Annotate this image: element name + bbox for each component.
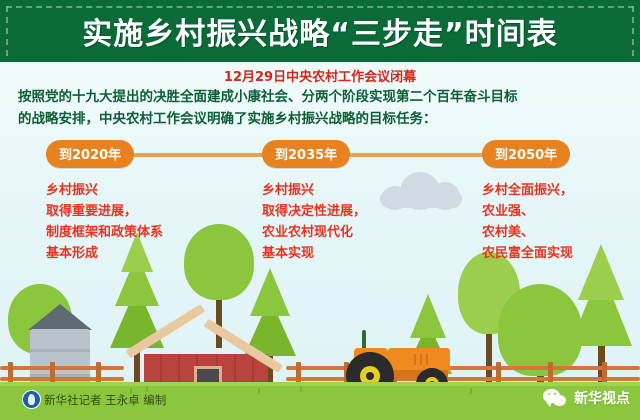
goal-line: 取得决定性进展， — [262, 201, 366, 222]
goal-line: 制度框架和政策体系 — [46, 222, 163, 243]
wechat-account-badge: 新华视点 — [543, 388, 630, 408]
stage-goals-2035: 乡村振兴 取得决定性进展， 农业农村现代化 基本实现 — [262, 180, 366, 264]
wechat-dot — [548, 393, 550, 395]
goal-line: 取得重要进展， — [46, 201, 163, 222]
stage-goals-2050: 乡村全面振兴， 农业强、 农村美、 农民富全面实现 — [482, 180, 573, 264]
goal-line: 农业强、 — [482, 201, 573, 222]
goal-line: 农业农村现代化 — [262, 222, 366, 243]
wechat-bubble-small — [553, 395, 566, 406]
wechat-bubble-tail — [546, 402, 552, 407]
stage-badge-2020: 到2020年 — [46, 140, 134, 168]
footer-bar: 新华社记者 王永卓 编制 新华视点 — [0, 382, 640, 420]
stage-badge-2050: 到2050年 — [482, 140, 570, 168]
goal-line: 农民富全面实现 — [482, 243, 573, 264]
page-title: 实施乡村振兴战略“三步走”时间表 — [0, 9, 640, 53]
goal-line: 乡村振兴 — [46, 180, 163, 201]
wechat-dot — [554, 393, 556, 395]
infographic-poster: 实施乡村振兴战略“三步走”时间表 12月29日中央农村工作会议闭幕 按照党的十九… — [0, 0, 640, 420]
lead-paragraph: 按照党的十九大提出的决胜全面建成小康社会、分两个阶段实现第二个百年奋斗目标 的战… — [18, 86, 626, 130]
header-banner: 实施乡村振兴战略“三步走”时间表 — [0, 0, 640, 62]
goal-line: 乡村全面振兴， — [482, 180, 573, 201]
stage-badge-2035: 到2035年 — [262, 140, 350, 168]
xinhua-logo-icon — [22, 390, 41, 409]
goal-line: 乡村振兴 — [262, 180, 366, 201]
timeline-stage-2050: 到2050年 乡村全面振兴， 农业强、 农村美、 农民富全面实现 — [482, 140, 573, 264]
credit-text: 新华社记者 王永卓 编制 — [44, 392, 166, 408]
timeline: 到2020年 乡村振兴 取得重要进展， 制度框架和政策体系 基本形成 到2035… — [0, 140, 640, 260]
goal-line: 基本形成 — [46, 243, 163, 264]
timeline-stage-2035: 到2035年 乡村振兴 取得决定性进展， 农业农村现代化 基本实现 — [262, 140, 366, 264]
goal-line: 基本实现 — [262, 243, 366, 264]
wechat-account-name: 新华视点 — [574, 388, 630, 408]
header-dashed-border — [6, 6, 634, 8]
goal-line: 农村美、 — [482, 222, 573, 243]
lead-line-1: 按照党的十九大提出的决胜全面建成小康社会、分两个阶段实现第二个百年奋斗目标 — [18, 86, 626, 108]
wechat-icon — [543, 388, 569, 408]
stage-goals-2020: 乡村振兴 取得重要进展， 制度框架和政策体系 基本形成 — [46, 180, 163, 264]
lead-line-2: 的战略安排，中央农村工作会议明确了实施乡村振兴战略的目标任务： — [18, 108, 626, 130]
timeline-stage-2020: 到2020年 乡村振兴 取得重要进展， 制度框架和政策体系 基本形成 — [46, 140, 163, 264]
subtitle: 12月29日中央农村工作会议闭幕 — [0, 66, 640, 85]
